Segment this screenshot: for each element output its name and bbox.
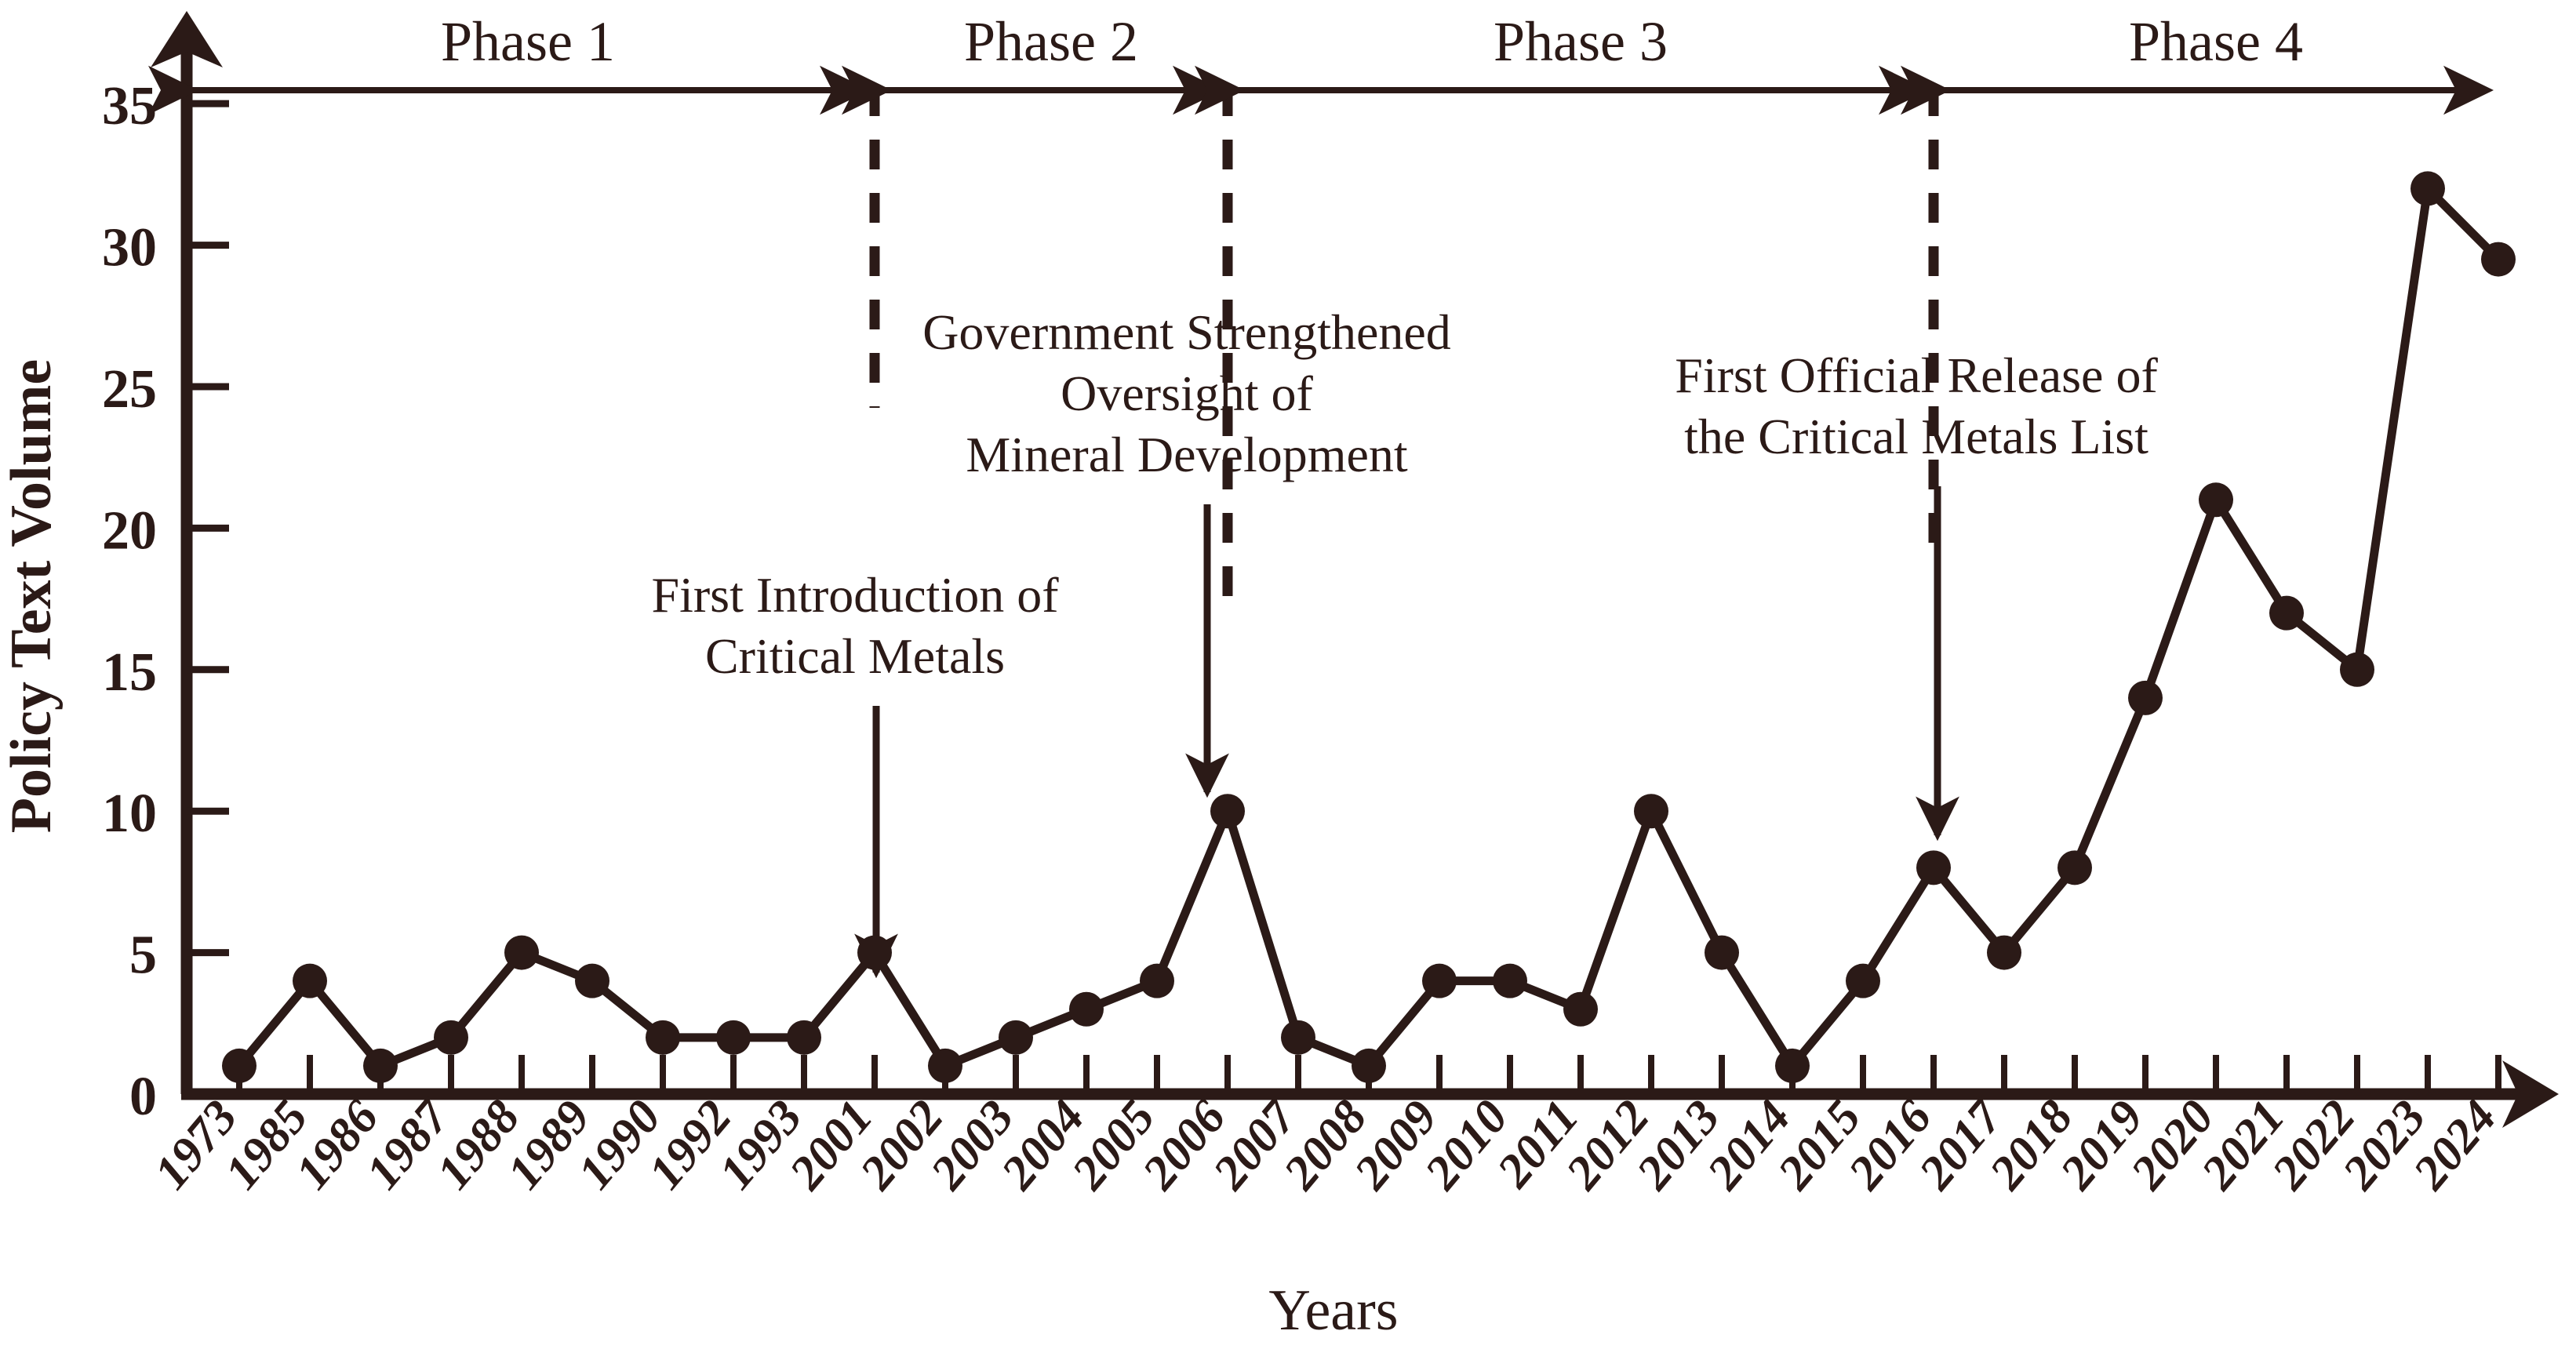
phase-label-4: Phase 4 [2129, 10, 2303, 73]
data-point-2015[interactable] [1846, 964, 1880, 998]
phase-label-3: Phase 3 [1494, 10, 1668, 73]
data-point-2002[interactable] [928, 1049, 962, 1083]
y-tick-label: 35 [102, 76, 157, 136]
y-tick-label: 0 [129, 1067, 157, 1127]
y-tick-label: 5 [129, 925, 157, 986]
data-point-1989[interactable] [575, 964, 609, 998]
data-point-1986[interactable] [363, 1049, 398, 1083]
data-point-1988[interactable] [504, 936, 539, 970]
data-point-1993[interactable] [787, 1020, 821, 1055]
data-point-2007[interactable] [1281, 1020, 1315, 1055]
y-axis-title: Policy Text Volume [0, 359, 64, 833]
data-point-2004[interactable] [1069, 992, 1104, 1027]
data-point-2003[interactable] [999, 1020, 1033, 1055]
phase-label-1: Phase 1 [441, 10, 615, 73]
chart-canvas: 05101520253035 1973198519861987198819891… [0, 0, 2576, 1349]
data-point-2021[interactable] [2269, 596, 2304, 631]
data-point-2005[interactable] [1140, 964, 1174, 998]
data-point-2012[interactable] [1634, 794, 1668, 828]
data-point-2016[interactable] [1916, 850, 1951, 885]
data-point-2020[interactable] [2199, 482, 2233, 517]
data-point-2001[interactable] [857, 936, 892, 970]
policy-text-volume-line-chart: 05101520253035 1973198519861987198819891… [0, 0, 2576, 1349]
data-point-2023[interactable] [2410, 171, 2445, 205]
data-point-2008[interactable] [1352, 1049, 1386, 1083]
data-point-2022[interactable] [2340, 653, 2374, 687]
y-tick-label: 25 [102, 359, 157, 420]
y-tick-label: 30 [102, 218, 157, 278]
data-point-2011[interactable] [1563, 992, 1598, 1027]
data-point-2024[interactable] [2481, 242, 2516, 277]
data-point-1987[interactable] [434, 1020, 468, 1055]
data-point-1990[interactable] [646, 1020, 680, 1055]
data-point-2014[interactable] [1775, 1049, 1810, 1083]
y-tick-label: 20 [102, 500, 157, 561]
data-point-2018[interactable] [2058, 850, 2092, 885]
data-point-1985[interactable] [293, 964, 327, 998]
data-point-2013[interactable] [1705, 936, 1739, 970]
data-point-1973[interactable] [222, 1049, 257, 1083]
data-point-2009[interactable] [1422, 964, 1457, 998]
data-point-2010[interactable] [1493, 964, 1527, 998]
y-tick-label: 10 [102, 784, 157, 844]
phase-label-2: Phase 2 [964, 10, 1138, 73]
data-point-1992[interactable] [716, 1020, 751, 1055]
y-tick-label: 15 [102, 642, 157, 703]
data-point-2017[interactable] [1987, 936, 2021, 970]
data-point-2019[interactable] [2128, 681, 2163, 715]
data-point-2006[interactable] [1210, 794, 1245, 828]
x-axis-title: Years [1268, 1278, 1398, 1343]
